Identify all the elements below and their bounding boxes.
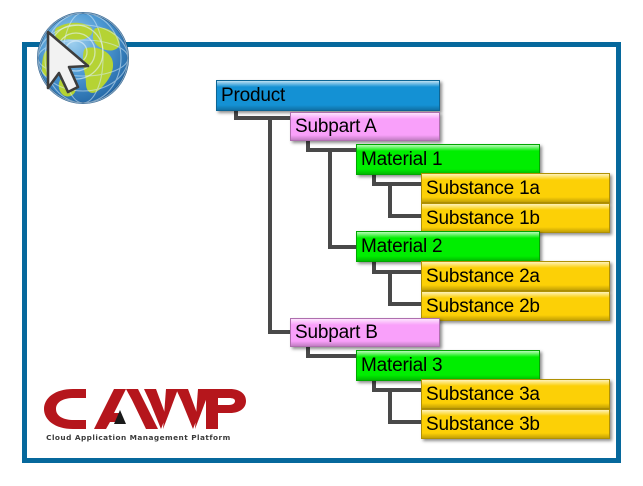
node-substance-2a-body: Substance 2a [421,261,610,291]
node-label: Substance 2b [426,297,540,316]
node-product-body: Product [216,80,440,111]
node-substance-2a[interactable]: Substance 2a [421,261,610,291]
node-substance-2b-body: Substance 2b [421,291,610,321]
node-material-3[interactable]: Material 3 [356,350,540,381]
node-subpart-b[interactable]: Subpart B [290,318,440,347]
node-substance-2b[interactable]: Substance 2b [421,291,610,321]
node-material-2-body: Material 2 [356,231,540,262]
node-material-1-body: Material 1 [356,144,540,175]
node-label: Substance 2a [426,267,540,286]
node-label: Substance 1a [426,179,540,198]
node-subpart-b-body: Subpart B [290,318,440,347]
slide-canvas: Product Subpart A Material 1 Substance 1… [0,0,643,486]
node-substance-1b-body: Substance 1b [421,203,610,233]
node-label: Subpart B [295,323,378,342]
node-substance-1a-body: Substance 1a [421,173,610,203]
node-subpart-a-body: Subpart A [290,112,440,141]
node-material-3-body: Material 3 [356,350,540,381]
camp-wordmark-icon [40,386,246,432]
node-product[interactable]: Product [216,80,440,111]
node-label: Material 2 [361,237,442,256]
node-substance-1b[interactable]: Substance 1b [421,203,610,233]
node-subpart-a[interactable]: Subpart A [290,112,440,141]
node-material-2[interactable]: Material 2 [356,231,540,262]
node-substance-3a-body: Substance 3a [421,379,610,409]
node-label: Substance 3b [426,415,540,434]
node-label: Material 1 [361,150,442,169]
camp-logo: Cloud Application Management Platform [40,386,252,446]
node-substance-3b-body: Substance 3b [421,409,610,439]
camp-tagline: Cloud Application Management Platform [40,433,256,442]
node-substance-3b[interactable]: Substance 3b [421,409,610,439]
node-label: Material 3 [361,356,442,375]
node-label: Product [221,86,285,105]
node-label: Substance 1b [426,209,540,228]
node-label: Substance 3a [426,385,540,404]
node-material-1[interactable]: Material 1 [356,144,540,175]
node-substance-1a[interactable]: Substance 1a [421,173,610,203]
node-substance-3a[interactable]: Substance 3a [421,379,610,409]
node-label: Subpart A [295,117,377,136]
